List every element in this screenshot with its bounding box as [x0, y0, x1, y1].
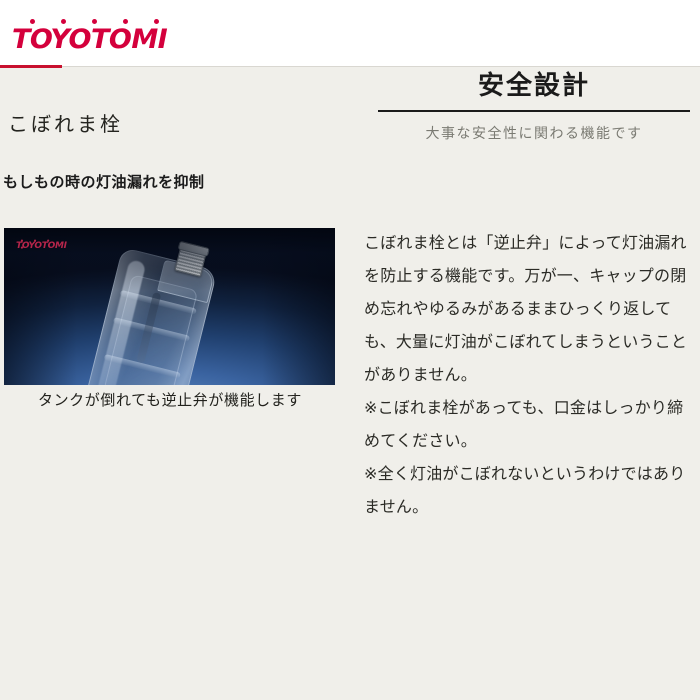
page-root: { "header": { "brand": "TOYOTOMI", "acce… [0, 0, 700, 700]
photo-watermark: • • • • TOYOTOMI [16, 241, 67, 251]
photo-caption: タンクが倒れても逆止弁が機能します [0, 389, 340, 411]
body-paragraph-1: こぼれま栓とは「逆止弁」によって灯油漏れを防止する機能です。万が一、キャップの閉… [364, 226, 694, 391]
body-copy: こぼれま栓とは「逆止弁」によって灯油漏れを防止する機能です。万が一、キャップの閉… [364, 226, 694, 523]
watermark-dots-icon: • • • • [20, 238, 67, 252]
product-photo: • • • • TOYOTOMI [4, 228, 335, 385]
site-header: TOYOTOMI [0, 0, 700, 66]
page-title: 安全設計 [378, 68, 690, 110]
body-paragraph-2: ※こぼれま栓があっても、口金はしっかり締めてください。 [364, 391, 694, 457]
sub-heading: もしもの時の灯油漏れを抑制 [0, 138, 350, 192]
body-paragraph-3: ※全く灯油がこぼれないというわけではありません。 [364, 457, 694, 523]
left-column: こぼれま栓 もしもの時の灯油漏れを抑制 [0, 66, 350, 192]
toyotomi-logo[interactable]: TOYOTOMI [12, 19, 168, 53]
title-underline [378, 110, 690, 112]
page-subtitle: 大事な安全性に関わる機能です [378, 124, 690, 144]
brand-name: TOYOTOMI [12, 23, 167, 57]
page-title-block: 安全設計 大事な安全性に関わる機能です [378, 68, 690, 144]
section-heading: こぼれま栓 [0, 66, 350, 138]
